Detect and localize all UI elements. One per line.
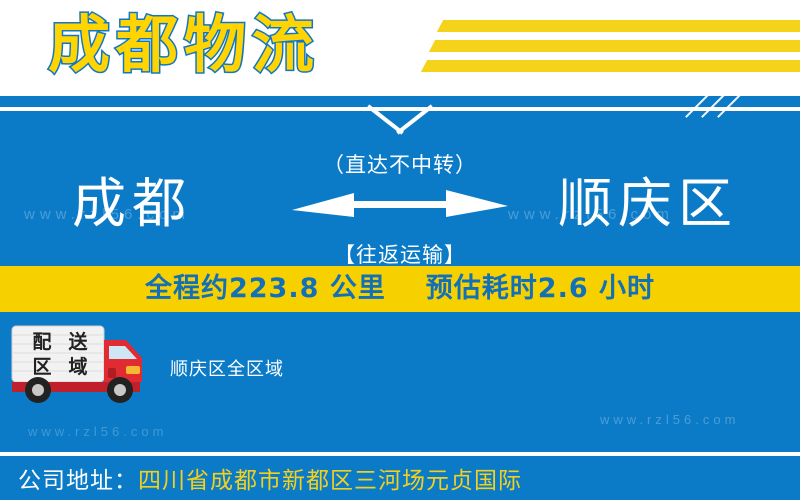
- stats-bar: 全程约223.8 公里 预估耗时2.6 小时: [0, 266, 800, 312]
- header-stripe-1: [437, 20, 800, 32]
- route-middle: （直达不中转） 【往返运输】: [282, 148, 518, 266]
- route-row: 成都 （直达不中转） 【往返运输】 顺庆区: [0, 148, 800, 266]
- logistics-banner: 成都物流 成都 （直达不中转） 【往返: [0, 0, 800, 500]
- header-stripe-3: [421, 60, 800, 72]
- truck-box-char-2: 送: [60, 330, 96, 355]
- delivery-area-text: 顺庆区全区域: [170, 358, 284, 382]
- chevron-right-stroke: [396, 104, 433, 134]
- destination-city: 顺庆区: [558, 156, 738, 252]
- header-stripe-2: [429, 40, 800, 52]
- delivery-truck-icon: 配 送 区 域: [8, 322, 156, 404]
- chevron-down-icon: [368, 104, 432, 138]
- content-body: 成都 （直达不中转） 【往返运输】 顺庆区 全程约223.8 公里 预估耗时2.…: [0, 96, 800, 500]
- direct-note: （直达不中转）: [282, 148, 518, 182]
- corner-slash-marks-icon: [734, 96, 800, 154]
- duration-stat: 预估耗时2.6 小时: [426, 266, 655, 312]
- origin-city: 成都: [72, 156, 192, 252]
- truck-box-text: 配 送 区 域: [24, 330, 96, 380]
- delivery-row: 配 送 区 域 顺庆区全区域: [0, 322, 800, 418]
- page-title: 成都物流: [48, 2, 320, 88]
- truck-box-char-4: 域: [60, 355, 96, 380]
- header-band: 成都物流: [0, 0, 800, 96]
- company-address: 公司地址：四川省成都市新都区三河场元贞国际: [18, 462, 798, 500]
- truck-box-char-3: 区: [24, 355, 60, 380]
- watermark: www.rzl56.com: [28, 424, 167, 439]
- truck-box-char-1: 配: [24, 330, 60, 355]
- address-value: 四川省成都市新都区三河场元贞国际: [138, 468, 522, 494]
- double-arrow-icon: [292, 184, 508, 220]
- address-label: 公司地址：: [18, 468, 138, 494]
- address-separator: [0, 452, 800, 456]
- distance-stat: 全程约223.8 公里: [145, 266, 386, 312]
